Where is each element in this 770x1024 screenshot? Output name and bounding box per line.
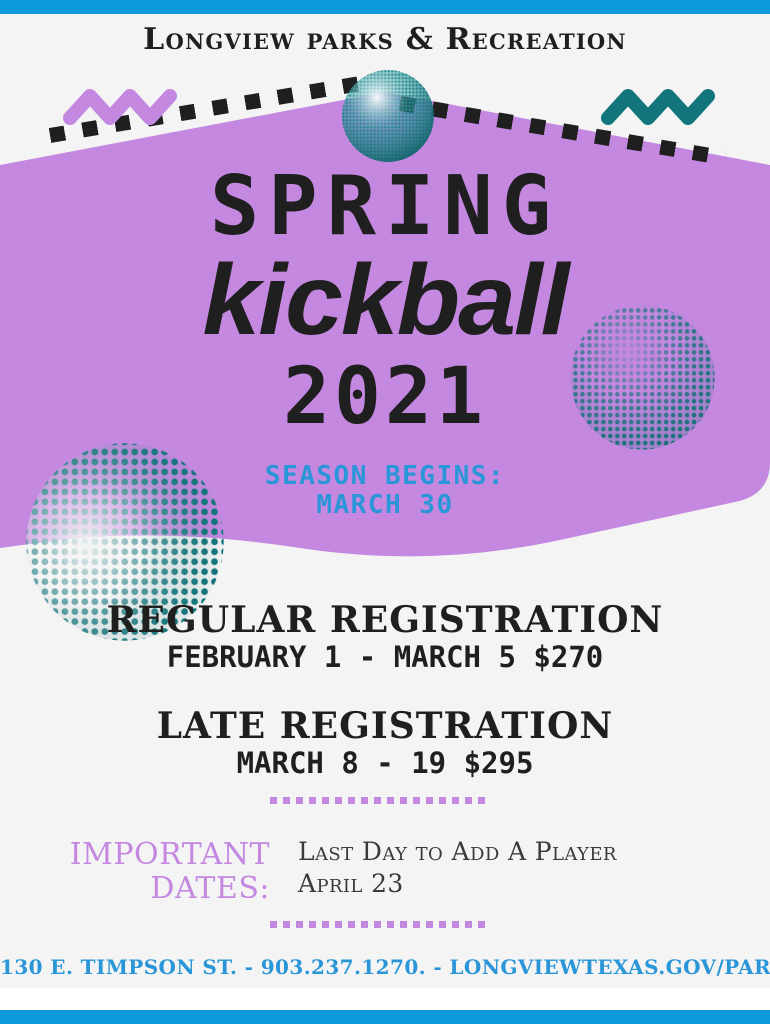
late-registration-details: MARCH 8 - 19 $295 — [0, 746, 770, 781]
late-registration-heading: LATE REGISTRATION — [0, 708, 770, 746]
important-dates-item-title: Last Day to Add A Player — [298, 836, 728, 868]
title-year: 2021 — [0, 358, 770, 436]
bottom-accent-bar — [0, 1010, 770, 1024]
flyer-poster: Longview parks & Recreation — [0, 0, 770, 1024]
bottom-white-band — [0, 988, 770, 1010]
important-dates-label-line2: DATES: — [40, 872, 270, 906]
season-begins: SEASON BEGINS: MARCH 30 — [0, 462, 770, 520]
regular-registration-details: FEBRUARY 1 - MARCH 5 $270 — [0, 640, 770, 675]
regular-registration-block: REGULAR REGISTRATION FEBRUARY 1 - MARCH … — [0, 602, 770, 675]
zigzag-purple-icon — [62, 84, 182, 128]
organization-title: Longview parks & Recreation — [0, 22, 770, 57]
season-begins-label: SEASON BEGINS: — [0, 462, 770, 491]
important-dates-label: IMPORTANT DATES: — [40, 838, 270, 905]
late-registration-block: LATE REGISTRATION MARCH 8 - 19 $295 — [0, 708, 770, 781]
halftone-sphere-icon — [338, 64, 438, 168]
important-dates-label-line1: IMPORTANT — [40, 838, 270, 872]
regular-registration-heading: REGULAR REGISTRATION — [0, 602, 770, 640]
important-dates-item-date: April 23 — [298, 868, 728, 900]
important-dates-content: Last Day to Add A Player April 23 — [298, 836, 728, 900]
season-begins-date: MARCH 30 — [0, 491, 770, 520]
top-accent-bar — [0, 0, 770, 14]
title-spring: SPRING — [0, 166, 770, 248]
zigzag-teal-icon — [600, 84, 720, 128]
dotted-divider — [270, 797, 485, 804]
dotted-divider — [270, 921, 485, 928]
title-kickball: kickball — [0, 250, 770, 350]
footer-contact: 130 E. TIMPSON ST. - 903.237.1270. - LON… — [0, 955, 770, 979]
